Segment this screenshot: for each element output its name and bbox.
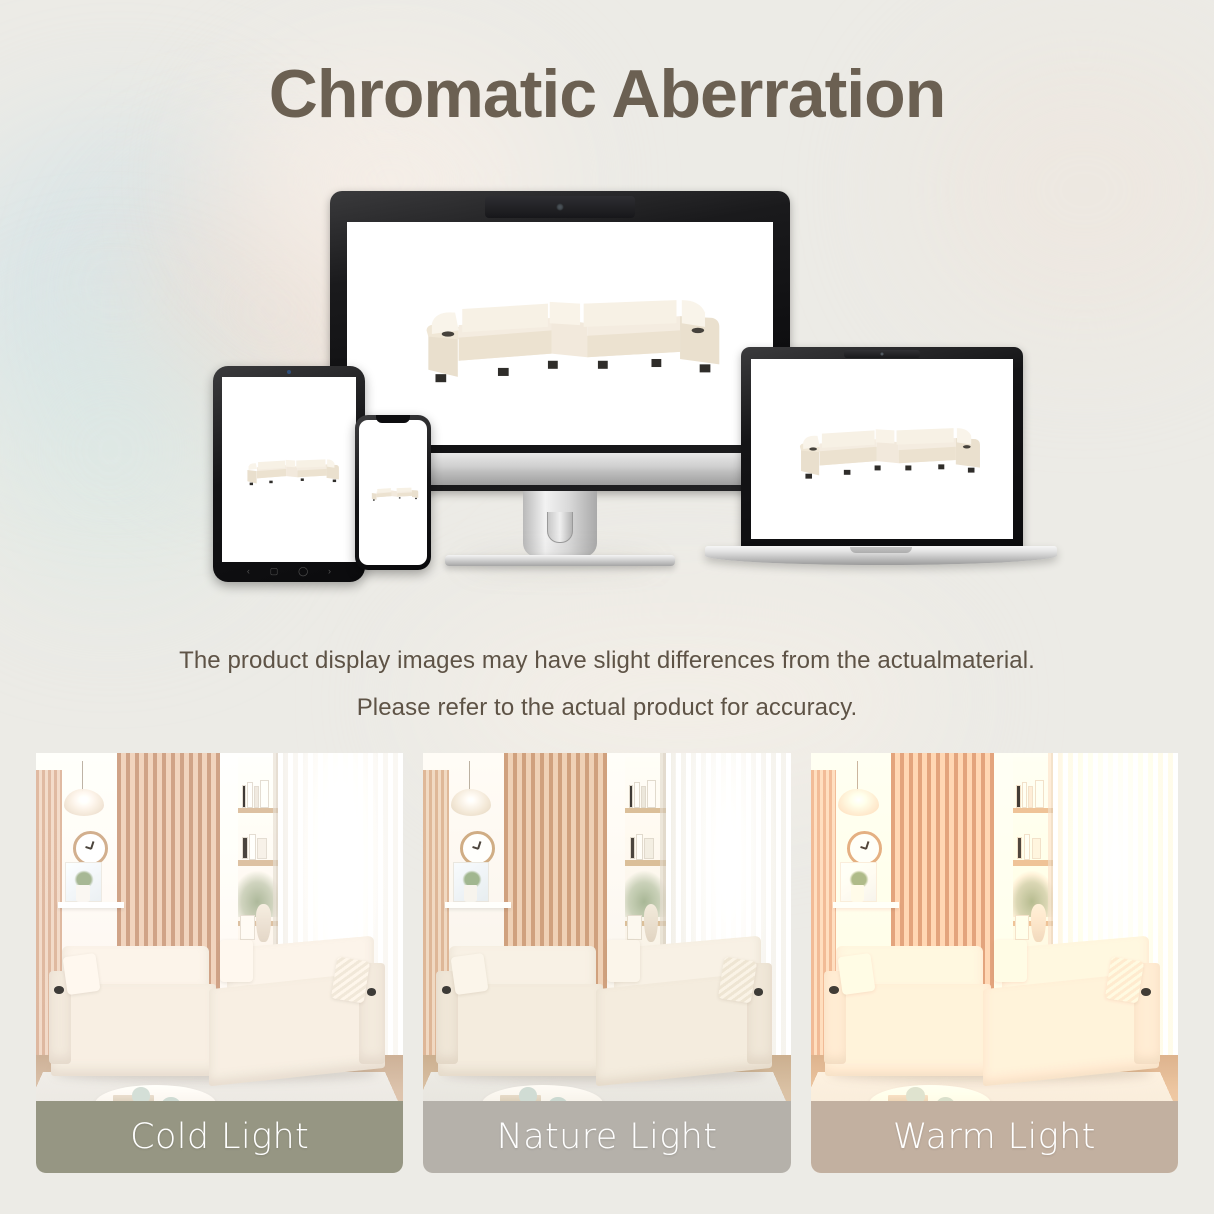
sofa-seat-left [51, 984, 216, 1076]
book [630, 837, 635, 859]
product-detail-page: Chromatic Aberration [0, 0, 1214, 1214]
throw-pillow [607, 940, 640, 982]
book [247, 782, 253, 807]
book [634, 782, 640, 807]
laptop-base-notch [850, 547, 912, 553]
shelf-plant-pot [76, 885, 89, 902]
book [1016, 785, 1020, 808]
throw-pillow [1105, 956, 1144, 1003]
floating-shelf [833, 902, 899, 908]
smartphone [355, 415, 431, 570]
wall-clock-icon [73, 831, 108, 866]
device-mockup-group: ‹ ▢ ◯ › [0, 175, 1214, 605]
book [1024, 834, 1031, 859]
disclaimer-line-1: The product display images may have slig… [0, 638, 1214, 685]
laptop-screen [751, 359, 1013, 539]
tablet-sofa-image [222, 450, 356, 489]
throw-pillow [330, 956, 369, 1003]
pendant-lamp-cord [82, 761, 83, 790]
book [636, 834, 643, 859]
book [644, 838, 654, 859]
phone-notch [376, 415, 410, 423]
page-title: Chromatic Aberration [0, 55, 1214, 133]
pendant-lamp-icon [838, 789, 878, 816]
phone-screen [359, 420, 427, 565]
book [641, 786, 646, 808]
shelf-plant-pot [851, 885, 864, 902]
armrest-cupholder-left [442, 986, 452, 994]
book [629, 785, 633, 808]
panel-label-cold-light: Cold Light [36, 1101, 403, 1173]
tablet: ‹ ▢ ◯ › [213, 366, 365, 582]
disclaimer-text: The product display images may have slig… [0, 638, 1214, 732]
throw-pillow [220, 940, 253, 982]
sofa-seat-left [825, 984, 990, 1076]
monitor-stand-base [445, 555, 675, 566]
book [1028, 786, 1033, 808]
throw-pillow [718, 956, 757, 1003]
vase [256, 904, 271, 942]
tablet-nav-forward-icon[interactable]: › [328, 567, 331, 576]
pendant-lamp-cord [857, 761, 858, 790]
book [242, 785, 246, 808]
panel-warm-light[interactable]: Warm Light [811, 753, 1178, 1173]
book [1022, 782, 1028, 807]
throw-pillow [838, 952, 876, 994]
panel-label-nature-light: Nature Light [423, 1101, 790, 1173]
niche-picture-frame [1015, 915, 1030, 940]
wall-clock-icon [847, 831, 882, 866]
tablet-nav-recent-icon[interactable]: ▢ [270, 567, 279, 576]
armrest-cupholder-right [1141, 988, 1151, 996]
book [249, 834, 256, 859]
vase [1031, 904, 1046, 942]
armrest-cupholder-right [367, 988, 377, 996]
laptop-lid [741, 347, 1023, 549]
book [647, 780, 656, 807]
laptop-webcam-icon [844, 350, 920, 358]
armrest-cupholder-left [54, 986, 64, 994]
monitor-webcam-icon [485, 196, 635, 218]
panel-cold-light[interactable]: Cold Light [36, 753, 403, 1173]
panel-nature-light[interactable]: Nature Light [423, 753, 790, 1173]
floating-shelf [58, 902, 124, 908]
armrest-cupholder-right [754, 988, 764, 996]
throw-pillow [450, 952, 488, 994]
book [1035, 780, 1044, 807]
book [1017, 837, 1022, 859]
laptop [705, 347, 1057, 579]
pendant-lamp-cord [469, 761, 470, 790]
tablet-screen [222, 377, 356, 562]
book [257, 838, 267, 859]
shelf-plant-pot [464, 885, 477, 902]
laptop-sofa-image [751, 411, 1013, 488]
monitor-stand-neck [523, 491, 597, 557]
tablet-nav-back-icon[interactable]: ‹ [247, 567, 250, 576]
tablet-navigation-bar[interactable]: ‹ ▢ ◯ › [213, 564, 365, 579]
tablet-nav-home-icon[interactable]: ◯ [298, 567, 308, 576]
throw-pillow [994, 940, 1027, 982]
floating-shelf [445, 902, 511, 908]
book [1032, 838, 1042, 859]
niche-picture-frame [240, 915, 255, 940]
book [254, 786, 259, 808]
disclaimer-line-2: Please refer to the actual product for a… [0, 685, 1214, 732]
phone-sofa-image [359, 483, 427, 503]
light-condition-panels: Cold Light [36, 753, 1178, 1173]
niche-picture-frame [627, 915, 642, 940]
tablet-camera-icon [287, 370, 291, 374]
throw-pillow [63, 952, 101, 994]
sofa-seat-left [438, 984, 603, 1076]
panel-label-warm-light: Warm Light [811, 1101, 1178, 1173]
wall-clock-icon [460, 831, 495, 866]
armrest-cupholder-left [829, 986, 839, 994]
book [260, 780, 269, 807]
book [242, 837, 247, 859]
